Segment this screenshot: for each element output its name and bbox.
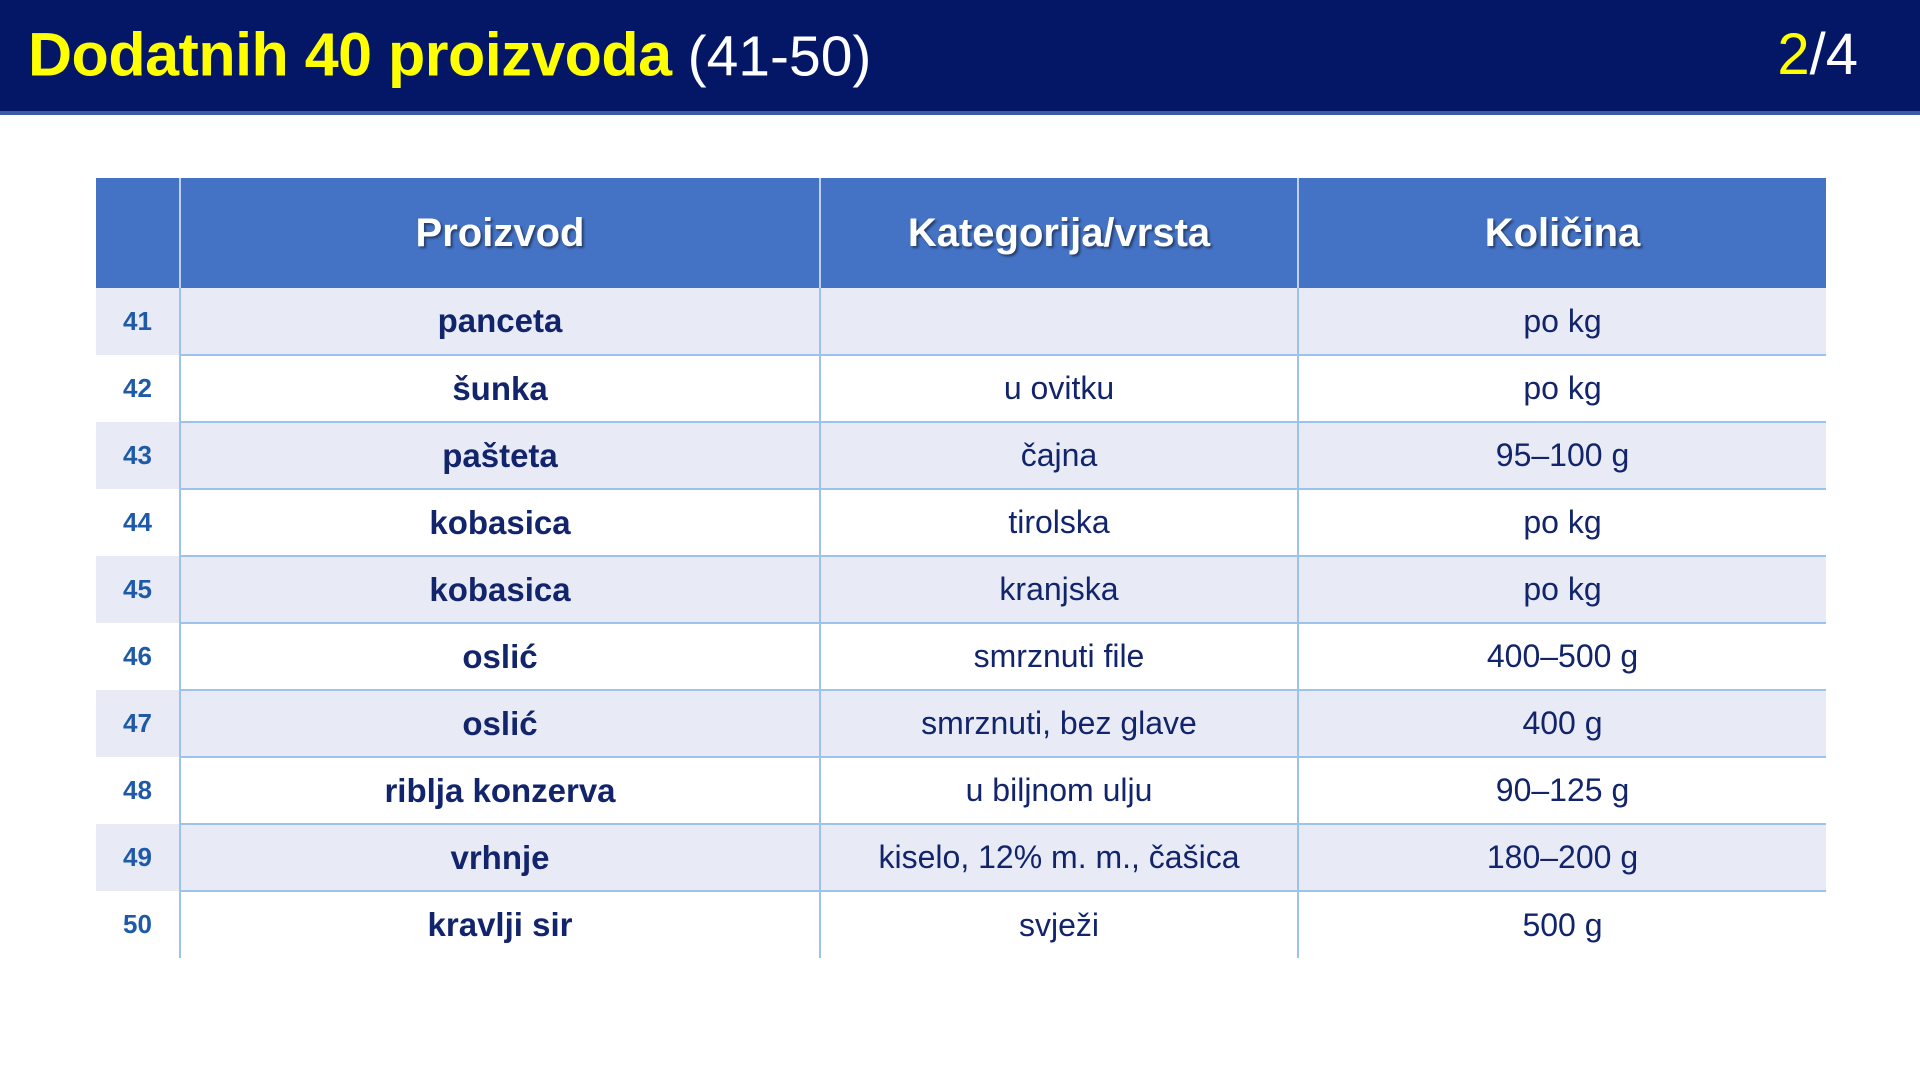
cell-proizvod: vrhnje [180, 824, 820, 891]
column-header-kategorija: Kategorija/vrsta [820, 178, 1298, 288]
cell-kategorija: kiselo, 12% m. m., čašica [820, 824, 1298, 891]
cell-kategorija: svježi [820, 891, 1298, 958]
table-row: 42šunkau ovitkupo kg [96, 355, 1826, 422]
product-table-container: Proizvod Kategorija/vrsta Količina 41pan… [96, 178, 1826, 958]
cell-proizvod: pašteta [180, 422, 820, 489]
cell-index: 43 [96, 422, 180, 489]
cell-kolicina: 400 g [1298, 690, 1826, 757]
table-header-row: Proizvod Kategorija/vrsta Količina [96, 178, 1826, 288]
cell-kategorija: tirolska [820, 489, 1298, 556]
slide-counter: 2/4 [1777, 25, 1858, 83]
cell-index: 48 [96, 757, 180, 824]
cell-proizvod: oslić [180, 690, 820, 757]
cell-kategorija: kranjska [820, 556, 1298, 623]
slide-counter-current: 2 [1777, 21, 1809, 86]
cell-index: 41 [96, 288, 180, 355]
cell-index: 46 [96, 623, 180, 690]
table-row: 41pancetapo kg [96, 288, 1826, 355]
table-body: 41pancetapo kg42šunkau ovitkupo kg43pašt… [96, 288, 1826, 958]
cell-proizvod: kravlji sir [180, 891, 820, 958]
page-title-range: (41-50) [688, 24, 872, 88]
cell-kolicina: po kg [1298, 489, 1826, 556]
table-header: Proizvod Kategorija/vrsta Količina [96, 178, 1826, 288]
table-row: 43paštetačajna95–100 g [96, 422, 1826, 489]
cell-kolicina: 500 g [1298, 891, 1826, 958]
table-row: 46oslićsmrznuti file400–500 g [96, 623, 1826, 690]
cell-kolicina: po kg [1298, 355, 1826, 422]
cell-index: 47 [96, 690, 180, 757]
cell-index: 50 [96, 891, 180, 958]
cell-index: 49 [96, 824, 180, 891]
table-row: 47oslićsmrznuti, bez glave400 g [96, 690, 1826, 757]
table-row: 45kobasicakranjskapo kg [96, 556, 1826, 623]
cell-kolicina: 95–100 g [1298, 422, 1826, 489]
cell-index: 44 [96, 489, 180, 556]
table-row: 49vrhnjekiselo, 12% m. m., čašica180–200… [96, 824, 1826, 891]
cell-proizvod: kobasica [180, 489, 820, 556]
column-header-index [96, 178, 180, 288]
cell-proizvod: panceta [180, 288, 820, 355]
page-title: Dodatnih 40 proizvoda(41-50) [28, 24, 871, 85]
cell-kategorija: čajna [820, 422, 1298, 489]
cell-index: 42 [96, 355, 180, 422]
cell-kolicina: po kg [1298, 288, 1826, 355]
cell-proizvod: riblja konzerva [180, 757, 820, 824]
page-title-main: Dodatnih 40 proizvoda [28, 20, 672, 88]
cell-proizvod: oslić [180, 623, 820, 690]
cell-kategorija: smrznuti file [820, 623, 1298, 690]
cell-kolicina: 180–200 g [1298, 824, 1826, 891]
slide-counter-total: /4 [1810, 21, 1858, 86]
cell-kategorija: u ovitku [820, 355, 1298, 422]
table-row: 48riblja konzervau biljnom ulju90–125 g [96, 757, 1826, 824]
cell-index: 45 [96, 556, 180, 623]
column-header-kolicina: Količina [1298, 178, 1826, 288]
slide-header: Dodatnih 40 proizvoda(41-50) 2/4 [0, 0, 1920, 115]
cell-kolicina: po kg [1298, 556, 1826, 623]
cell-proizvod: šunka [180, 355, 820, 422]
cell-kolicina: 400–500 g [1298, 623, 1826, 690]
column-header-proizvod: Proizvod [180, 178, 820, 288]
cell-proizvod: kobasica [180, 556, 820, 623]
table-row: 44kobasicatirolskapo kg [96, 489, 1826, 556]
cell-kolicina: 90–125 g [1298, 757, 1826, 824]
cell-kategorija [820, 288, 1298, 355]
cell-kategorija: smrznuti, bez glave [820, 690, 1298, 757]
cell-kategorija: u biljnom ulju [820, 757, 1298, 824]
table-row: 50kravlji sirsvježi500 g [96, 891, 1826, 958]
product-table: Proizvod Kategorija/vrsta Količina 41pan… [96, 178, 1826, 958]
